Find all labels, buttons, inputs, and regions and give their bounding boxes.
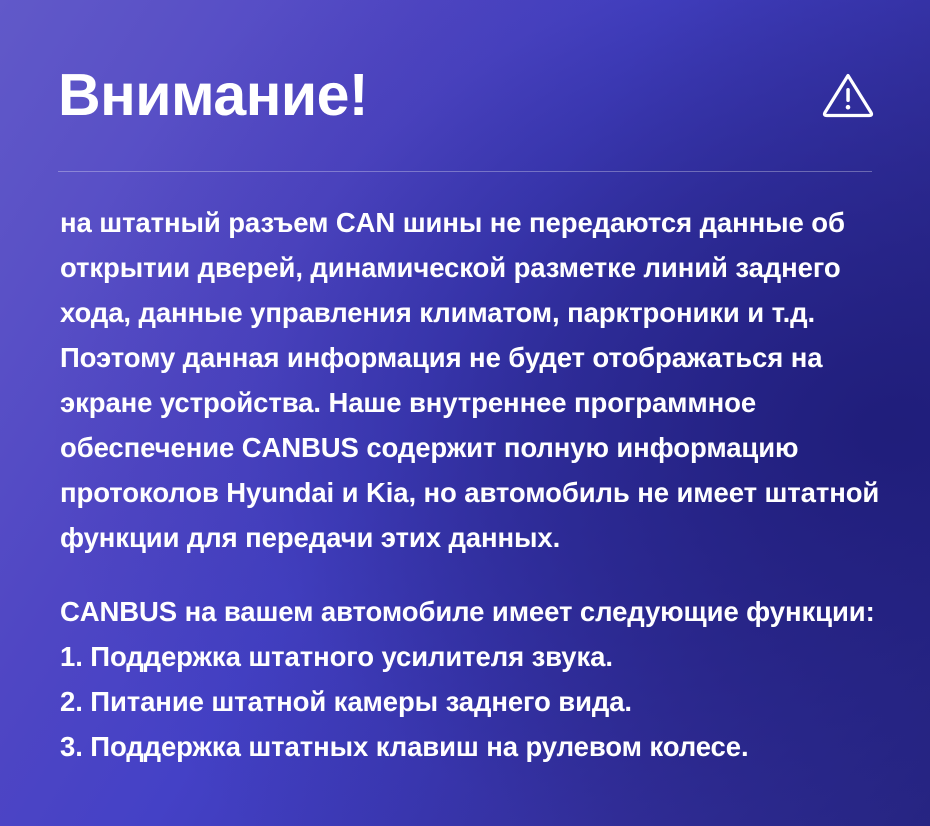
intro-line: на штатный разъем CAN шины не передаются… [60, 200, 884, 245]
intro-line: функции для передачи этих данных. [60, 515, 884, 560]
intro-paragraph: на штатный разъем CAN шины не передаются… [60, 200, 884, 560]
intro-line: экране устройства. Наше внутреннее прогр… [60, 380, 884, 425]
page-title: Внимание! [58, 66, 368, 125]
header-divider [58, 171, 872, 172]
feature-item: 3. Поддержка штатных клавиш на рулевом к… [60, 724, 884, 769]
intro-line: открытии дверей, динамической разметке л… [60, 245, 884, 290]
features-heading: CANBUS на вашем автомобиле имеет следующ… [60, 589, 884, 634]
feature-item: 2. Питание штатной камеры заднего вида. [60, 679, 884, 724]
intro-line: обеспечение CANBUS содержит полную инфор… [60, 425, 884, 470]
intro-line: хода, данные управления климатом, парктр… [60, 290, 884, 335]
warning-notice-card: Внимание! на штатный разъем CAN шины не … [0, 0, 930, 826]
intro-line: Поэтому данная информация не будет отобр… [60, 335, 884, 380]
features-section: CANBUS на вашем автомобиле имеет следующ… [60, 589, 884, 769]
notice-header: Внимание! [58, 52, 878, 138]
intro-line: протоколов Hyundai и Kia, но автомобиль … [60, 470, 884, 515]
warning-triangle-icon [820, 67, 876, 123]
notice-body: на штатный разъем CAN шины не передаются… [60, 200, 884, 769]
feature-item: 1. Поддержка штатного усилителя звука. [60, 634, 884, 679]
